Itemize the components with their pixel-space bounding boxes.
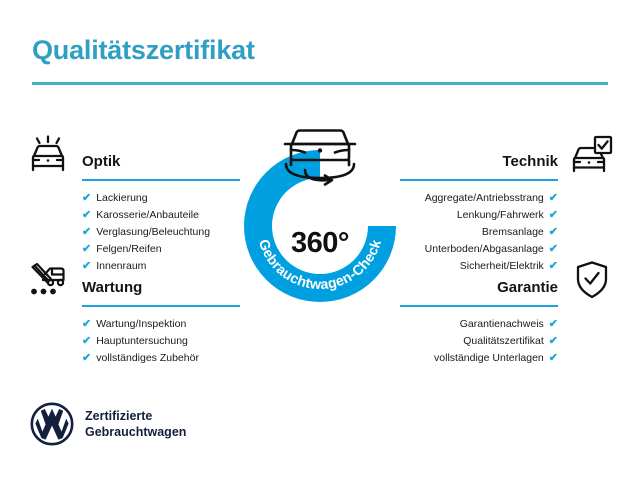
- section-garantie: Garantie ✔Garantienachweis ✔Qualitätszer…: [400, 258, 618, 367]
- list-item-label: vollständiges Zubehör: [96, 350, 199, 367]
- section-garantie-head: Garantie: [400, 258, 618, 304]
- badge-360-gebrauchtwagen-check: Gebrauchtwagen-Check 360°: [233, 120, 407, 310]
- header: Qualitätszertifikat: [32, 36, 608, 85]
- check-icon: ✔: [82, 353, 91, 364]
- section-technik-title: Technik: [502, 153, 558, 170]
- car-service-pen-icon: [22, 258, 74, 302]
- shield-check-icon: [566, 258, 618, 302]
- list-item: ✔Garantienachweis: [400, 316, 618, 333]
- list-item: ✔vollständiges Zubehör: [22, 350, 240, 367]
- list-item-label: Bremsanlage: [482, 224, 544, 241]
- section-optik-divider: [82, 179, 240, 181]
- list-item: ✔Lenkung/Fahrwerk: [400, 207, 618, 224]
- section-technik-head: Technik: [400, 132, 618, 178]
- check-icon: ✔: [549, 227, 558, 238]
- header-divider: [32, 82, 608, 85]
- check-icon: ✔: [82, 210, 91, 221]
- list-item-label: Wartung/Inspektion: [96, 316, 186, 333]
- check-icon: ✔: [82, 336, 91, 347]
- check-icon: ✔: [549, 193, 558, 204]
- list-item-label: Hauptuntersuchung: [96, 333, 188, 350]
- section-optik: Optik ✔Lackierung ✔Karosserie/Anbauteile…: [22, 132, 240, 275]
- section-technik-divider: [400, 179, 558, 181]
- section-optik-head: Optik: [22, 132, 240, 178]
- list-item: ✔Wartung/Inspektion: [22, 316, 240, 333]
- list-item: ✔vollständige Unterlagen: [400, 350, 618, 367]
- list-item-label: Qualitätszertifikat: [463, 333, 544, 350]
- car-shine-icon: [22, 132, 74, 176]
- list-item: ✔Karosserie/Anbauteile: [22, 207, 240, 224]
- check-icon: ✔: [82, 319, 91, 330]
- volkswagen-logo: [30, 402, 74, 446]
- check-icon: ✔: [82, 244, 91, 255]
- section-garantie-divider: [400, 305, 558, 307]
- list-item-label: Felgen/Reifen: [96, 241, 161, 258]
- footer: Zertifizierte Gebrauchtwagen: [30, 402, 186, 446]
- list-item-label: Lenkung/Fahrwerk: [457, 207, 544, 224]
- check-icon: ✔: [549, 353, 558, 364]
- section-wartung: Wartung ✔Wartung/Inspektion ✔Hauptunters…: [22, 258, 240, 367]
- list-item: ✔Bremsanlage: [400, 224, 618, 241]
- list-item-label: Garantienachweis: [460, 316, 544, 333]
- check-icon: ✔: [549, 319, 558, 330]
- list-item: ✔Verglasung/Beleuchtung: [22, 224, 240, 241]
- list-item: ✔Lackierung: [22, 190, 240, 207]
- check-icon: ✔: [549, 244, 558, 255]
- section-wartung-head: Wartung: [22, 258, 240, 304]
- check-icon: ✔: [549, 210, 558, 221]
- certificate-page: Qualitätszertifikat Optik: [0, 0, 640, 480]
- section-optik-title: Optik: [82, 153, 120, 170]
- check-icon: ✔: [549, 336, 558, 347]
- list-item: ✔Hauptuntersuchung: [22, 333, 240, 350]
- list-item-label: Unterboden/Abgasanlage: [425, 241, 544, 258]
- check-icon: ✔: [82, 227, 91, 238]
- list-item-label: Karosserie/Anbauteile: [96, 207, 199, 224]
- list-item-label: Verglasung/Beleuchtung: [96, 224, 210, 241]
- list-item: ✔Felgen/Reifen: [22, 241, 240, 258]
- footer-label: Zertifizierte Gebrauchtwagen: [85, 408, 186, 441]
- check-icon: ✔: [82, 193, 91, 204]
- section-garantie-list: ✔Garantienachweis ✔Qualitätszertifikat ✔…: [400, 316, 618, 367]
- list-item-label: vollständige Unterlagen: [434, 350, 544, 367]
- list-item: ✔Unterboden/Abgasanlage: [400, 241, 618, 258]
- section-technik: Technik ✔Aggregate/Antriebsstrang ✔Lenku…: [400, 132, 618, 275]
- car-checkbox-icon: [566, 132, 618, 176]
- list-item-label: Lackierung: [96, 190, 147, 207]
- list-item-label: Aggregate/Antriebsstrang: [425, 190, 544, 207]
- section-garantie-title: Garantie: [497, 279, 558, 296]
- badge-degrees: 360°: [233, 227, 407, 260]
- list-item: ✔Aggregate/Antriebsstrang: [400, 190, 618, 207]
- section-wartung-divider: [82, 305, 240, 307]
- list-item: ✔Qualitätszertifikat: [400, 333, 618, 350]
- page-title: Qualitätszertifikat: [32, 36, 608, 66]
- section-wartung-list: ✔Wartung/Inspektion ✔Hauptuntersuchung ✔…: [22, 316, 240, 367]
- section-wartung-title: Wartung: [82, 279, 142, 296]
